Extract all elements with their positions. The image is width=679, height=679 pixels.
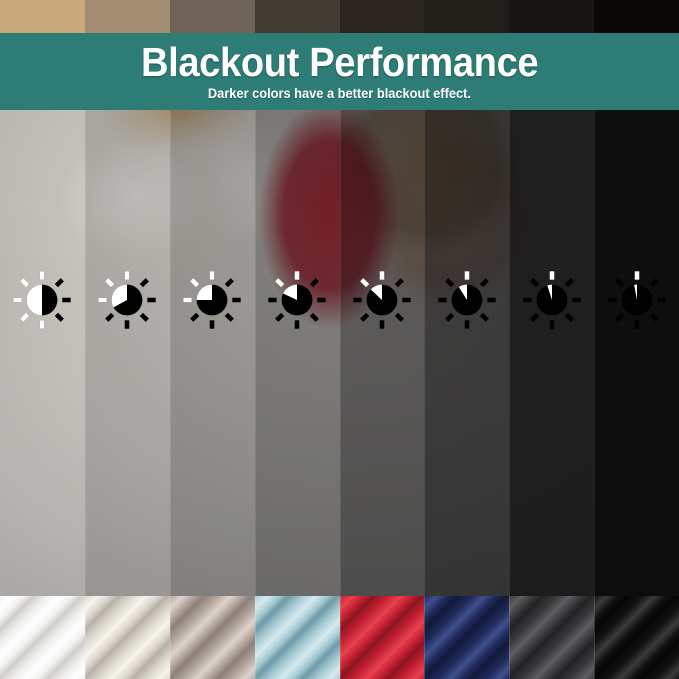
page-subtitle: Darker colors have a better blackout eff… [208, 87, 471, 101]
fabric-swatch-strip [0, 596, 679, 679]
sun-icon-brightness-2 [92, 265, 162, 335]
fabric-swatch-6 [424, 596, 509, 679]
fabric-swatch-4 [255, 596, 340, 679]
sun-icon-brightness-5 [347, 265, 417, 335]
top-strip-swatch-1 [0, 0, 85, 34]
sun-icon-brightness-1 [7, 265, 77, 335]
fabric-swatch-5 [340, 596, 425, 679]
top-strip-swatch-7 [509, 0, 594, 34]
sun-icon-brightness-8 [602, 265, 672, 335]
fabric-swatch-8 [594, 596, 679, 679]
top-strip-swatch-4 [255, 0, 340, 34]
top-strip-swatch-3 [170, 0, 255, 34]
top-strip-swatch-6 [424, 0, 509, 34]
fabric-swatch-2 [85, 596, 170, 679]
fabric-swatch-1 [0, 596, 85, 679]
fabric-swatch-7 [509, 596, 594, 679]
sun-icon-brightness-3 [177, 265, 247, 335]
top-strip-swatch-2 [85, 0, 170, 34]
page-title: Blackout Performance [141, 42, 538, 83]
sun-icon-brightness-6 [432, 265, 502, 335]
top-color-strip [0, 0, 679, 34]
top-strip-swatch-5 [340, 0, 425, 34]
sun-icon-brightness-4 [262, 265, 332, 335]
header-banner: Blackout Performance Darker colors have … [0, 33, 679, 110]
fabric-swatch-3 [170, 596, 255, 679]
blackout-performance-infographic: Blackout Performance Darker colors have … [0, 0, 679, 679]
sun-icon-brightness-7 [517, 265, 587, 335]
top-strip-swatch-8 [594, 0, 679, 34]
